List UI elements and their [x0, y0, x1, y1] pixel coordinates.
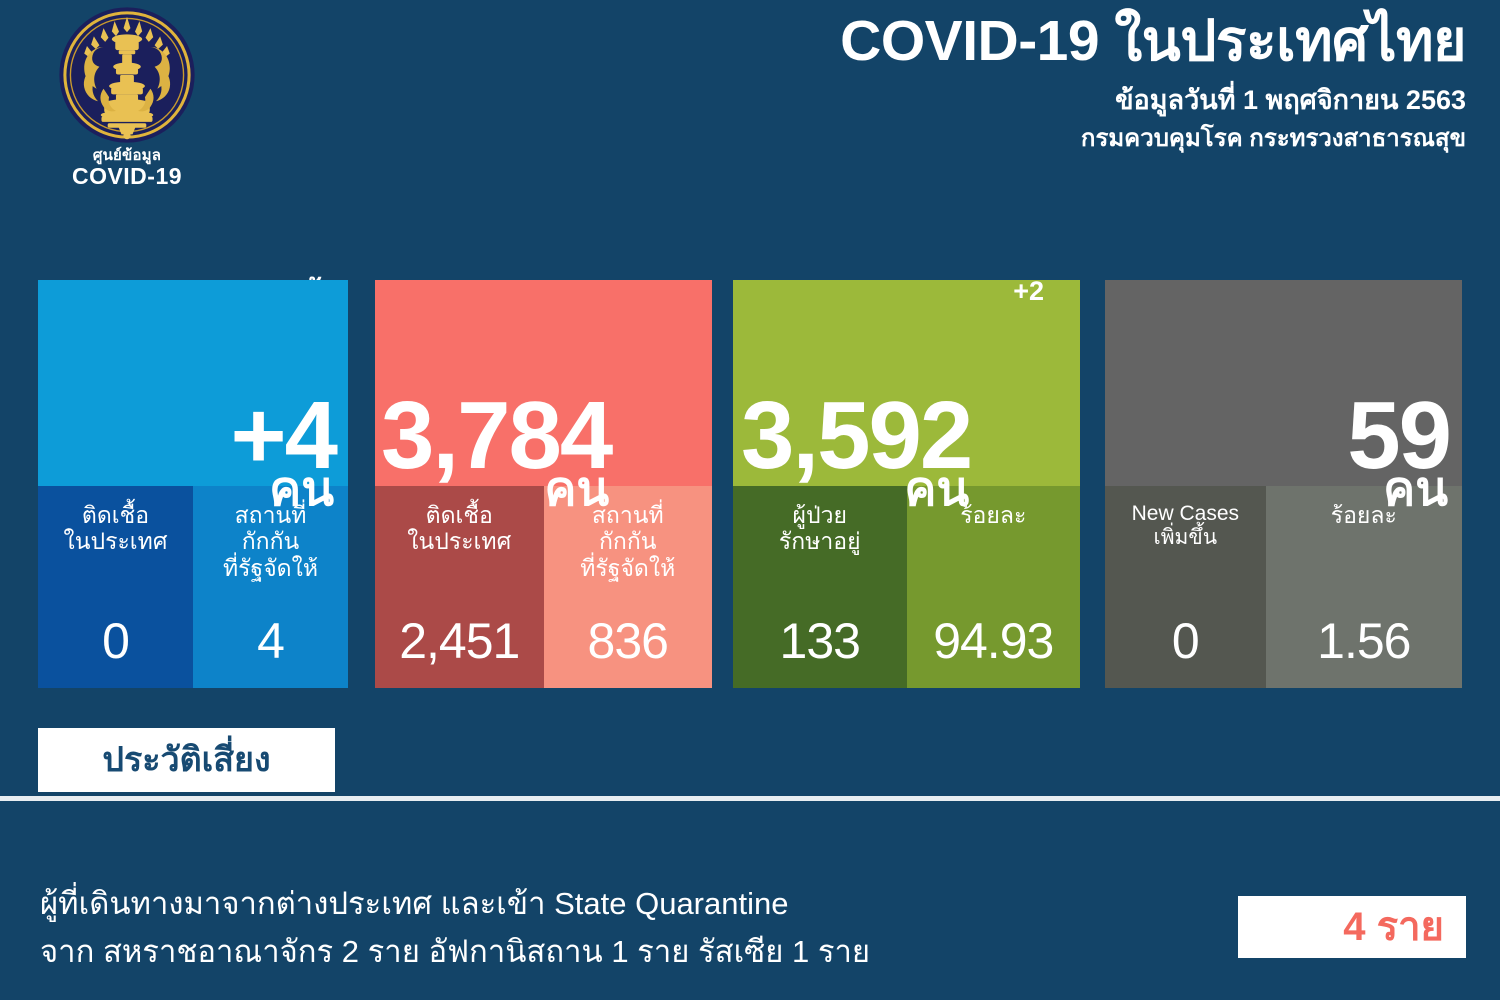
thai-government-garuda-seal-icon	[58, 6, 196, 144]
stat-unit: คน	[269, 466, 334, 514]
subpanel-value: 0	[102, 616, 129, 688]
subpanel-percentage: ร้อยละ 94.93	[907, 486, 1081, 688]
subpanel-value: 4	[257, 616, 284, 688]
subpanel-domestic: ติดเชื้อ ในประเทศ 0	[38, 486, 193, 688]
risk-history-details: ผู้ที่เดินทางมาจากต่างประเทศ และเข้า Sta…	[40, 880, 1220, 976]
header-title-block: COVID-19 ในประเทศไทย ข้อมูลวันที่ 1 พฤศจ…	[840, 12, 1466, 155]
subpanel-value: 836	[588, 616, 668, 688]
report-date: ข้อมูลวันที่ 1 พฤศจิกายน 2563	[840, 82, 1466, 118]
subpanel-label: ติดเชื้อ ในประเทศ	[64, 502, 168, 555]
stat-card-recovered: หายป่วยแล้ว +2 3,592 คน ผู้ป่วย รักษาอยู…	[733, 280, 1080, 688]
subpanel-value: 0	[1172, 616, 1199, 688]
risk-total-badge: 4 ราย	[1238, 896, 1466, 958]
risk-total-value: 4 ราย	[1343, 907, 1444, 947]
stat-card-hero: +4 คน	[38, 280, 348, 486]
stat-unit: คน	[904, 466, 969, 514]
risk-history-label: ประวัติเสี่ยง	[102, 743, 270, 777]
stat-card-subpanels: ผู้ป่วย รักษาอยู่ 133 ร้อยละ 94.93	[733, 486, 1080, 688]
stat-card-hero: 3,784 คน	[375, 280, 712, 486]
stat-delta-badge: +2	[1013, 278, 1044, 305]
brand-main-label: COVID-19	[22, 164, 232, 189]
infographic-root: ศูนย์ข้อมูล COVID-19 COVID-19 ในประเทศไท…	[0, 0, 1500, 1000]
stat-card-deaths: เสียชีวิต 59 คน New Cases เพิ่มขึ้น 0 ร้…	[1105, 280, 1462, 688]
risk-history-banner: ประวัติเสี่ยง	[38, 728, 335, 792]
brand-sub-label: ศูนย์ข้อมูล	[22, 148, 232, 164]
stat-card-subpanels: New Cases เพิ่มขึ้น 0 ร้อยละ 1.56	[1105, 486, 1462, 688]
subpanel-label: ผู้ป่วย รักษาอยู่	[779, 502, 861, 555]
subpanel-new-deaths: New Cases เพิ่มขึ้น 0	[1105, 486, 1266, 688]
subpanel-value: 1.56	[1317, 616, 1410, 688]
subpanel-state-quarantine: สถานที่ กักกัน ที่รัฐจัดให้ 4	[193, 486, 348, 688]
stat-card-new-cases: ผู้ป่วยรายใหม่ในวันนี้ +4 คน ติดเชื้อ ใน…	[38, 280, 348, 688]
stat-card-hero: 59 คน	[1105, 280, 1462, 486]
page-title: COVID-19 ในประเทศไทย	[840, 12, 1466, 70]
stat-card-hero: +2 3,592 คน	[733, 280, 1080, 486]
stat-card-subpanels: ติดเชื้อ ในประเทศ 2,451 สถานที่ กักกัน ท…	[375, 486, 712, 688]
subpanel-value: 133	[780, 616, 860, 688]
subpanel-label: ติดเชื้อ ในประเทศ	[407, 502, 511, 555]
stat-unit: คน	[1383, 466, 1448, 514]
brand-block: ศูนย์ข้อมูล COVID-19	[22, 6, 232, 189]
report-organization: กรมควบคุมโรค กระทรวงสาธารณสุข	[840, 123, 1466, 155]
stat-cards-row: ผู้ป่วยรายใหม่ในวันนี้ +4 คน ติดเชื้อ ใน…	[0, 236, 1500, 688]
subpanel-currently-treated: ผู้ป่วย รักษาอยู่ 133	[733, 486, 907, 688]
subpanel-domestic: ติดเชื้อ ในประเทศ 2,451	[375, 486, 544, 688]
risk-detail-line-1: ผู้ที่เดินทางมาจากต่างประเทศ และเข้า Sta…	[40, 880, 1220, 928]
stat-unit: คน	[544, 466, 609, 514]
subpanel-value: 2,451	[399, 616, 519, 688]
risk-detail-line-2: จาก สหราชอาณาจักร 2 ราย อัฟกานิสถาน 1 รา…	[40, 928, 1220, 976]
subpanel-label: New Cases เพิ่มขึ้น	[1132, 502, 1239, 550]
stat-card-cumulative-cases: ผู้ป่วยยืนยันสะสม 3,784 คน ติดเชื้อ ในปร…	[375, 280, 712, 688]
subpanel-label: ร้อยละ	[960, 502, 1026, 528]
subpanel-percentage: ร้อยละ 1.56	[1266, 486, 1462, 688]
section-divider	[0, 796, 1500, 801]
subpanel-state-quarantine: สถานที่ กักกัน ที่รัฐจัดให้ 836	[544, 486, 713, 688]
subpanel-value: 94.93	[933, 616, 1053, 688]
stat-card-subpanels: ติดเชื้อ ในประเทศ 0 สถานที่ กักกัน ที่รั…	[38, 486, 348, 688]
